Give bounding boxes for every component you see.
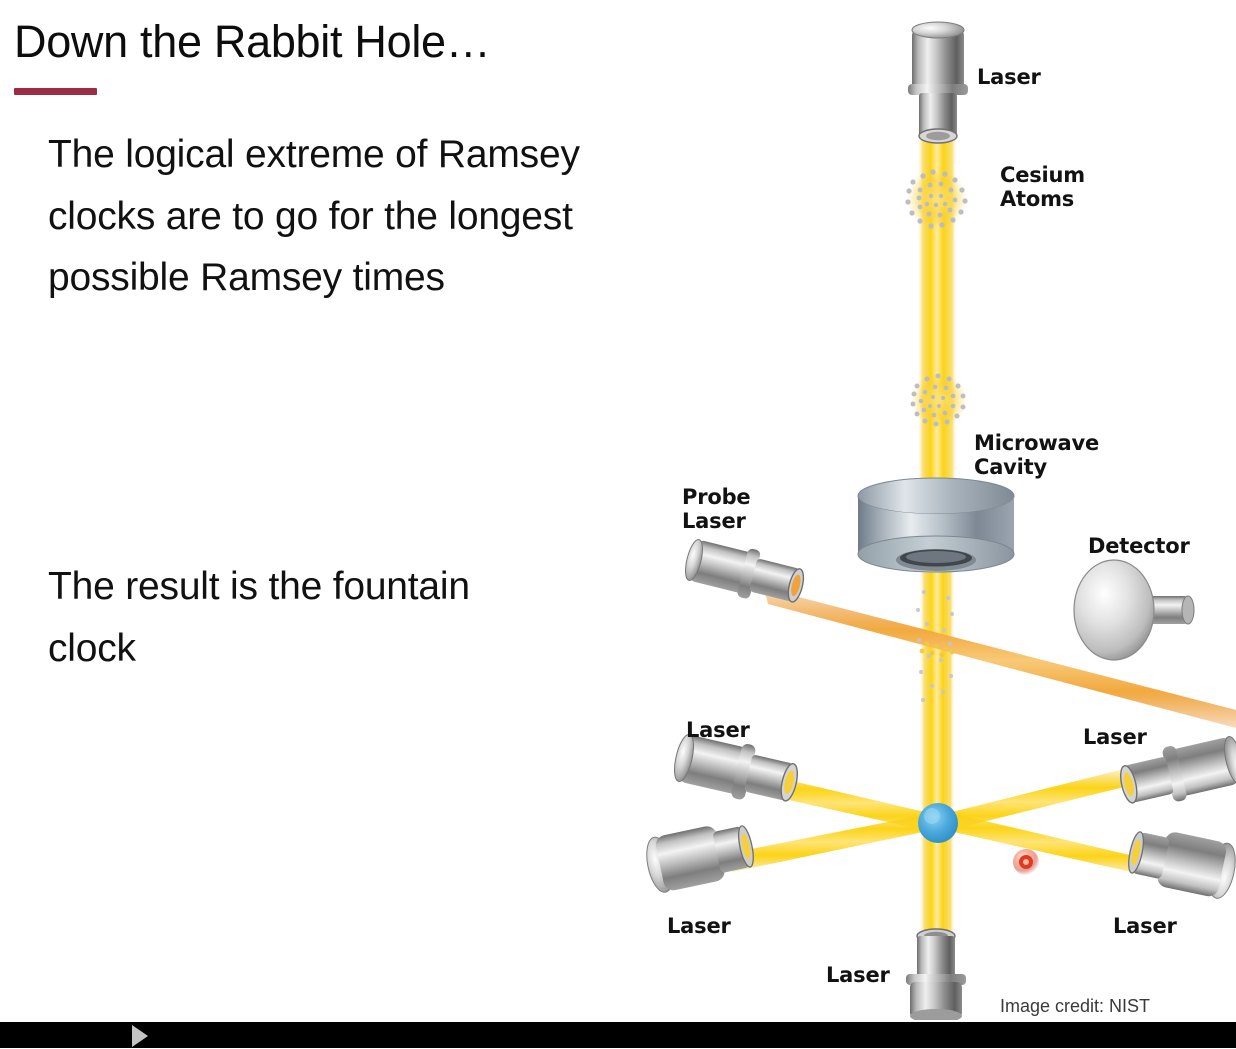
label-cesium-atoms: Cesium Atoms: [1000, 164, 1085, 211]
video-player-bar[interactable]: [0, 1022, 1236, 1048]
label-probe-laser: Probe Laser: [682, 486, 750, 533]
detector: [1074, 560, 1194, 660]
label-laser-bottom: Laser: [826, 964, 890, 988]
laser-source-lower-right: [1124, 824, 1236, 901]
image-credit: Image credit: NIST: [1000, 996, 1150, 1017]
laser-source-lower-left: [642, 818, 757, 895]
label-laser-lower-right: Laser: [1113, 915, 1177, 939]
label-laser-upper-right: Laser: [1083, 726, 1147, 750]
bullet-paragraph-1: The logical extreme of Ramsey clocks are…: [48, 124, 588, 309]
label-detector: Detector: [1088, 535, 1190, 559]
label-laser-upper-left: Laser: [686, 719, 750, 743]
label-microwave-cavity: Microwave Cavity: [974, 432, 1099, 479]
microwave-cavity: [858, 478, 1014, 572]
laser-source-bottom: [906, 929, 966, 1020]
play-icon[interactable]: [118, 1023, 162, 1049]
cesium-atom-cloud-upper: [905, 169, 967, 229]
page-title: Down the Rabbit Hole…: [14, 16, 490, 68]
label-laser-top: Laser: [977, 66, 1041, 90]
fountain-clock-diagram: Laser Cesium Atoms Microwave Cavity Prob…: [636, 0, 1236, 1020]
title-underline-rule: [14, 88, 97, 95]
label-laser-lower-left: Laser: [667, 915, 731, 939]
laser-source-probe: [681, 534, 808, 611]
bullet-paragraph-2: The result is the fountain clock: [48, 556, 568, 679]
trapped-atom-ball: [918, 803, 958, 843]
red-indicator-dot: [1013, 849, 1039, 875]
